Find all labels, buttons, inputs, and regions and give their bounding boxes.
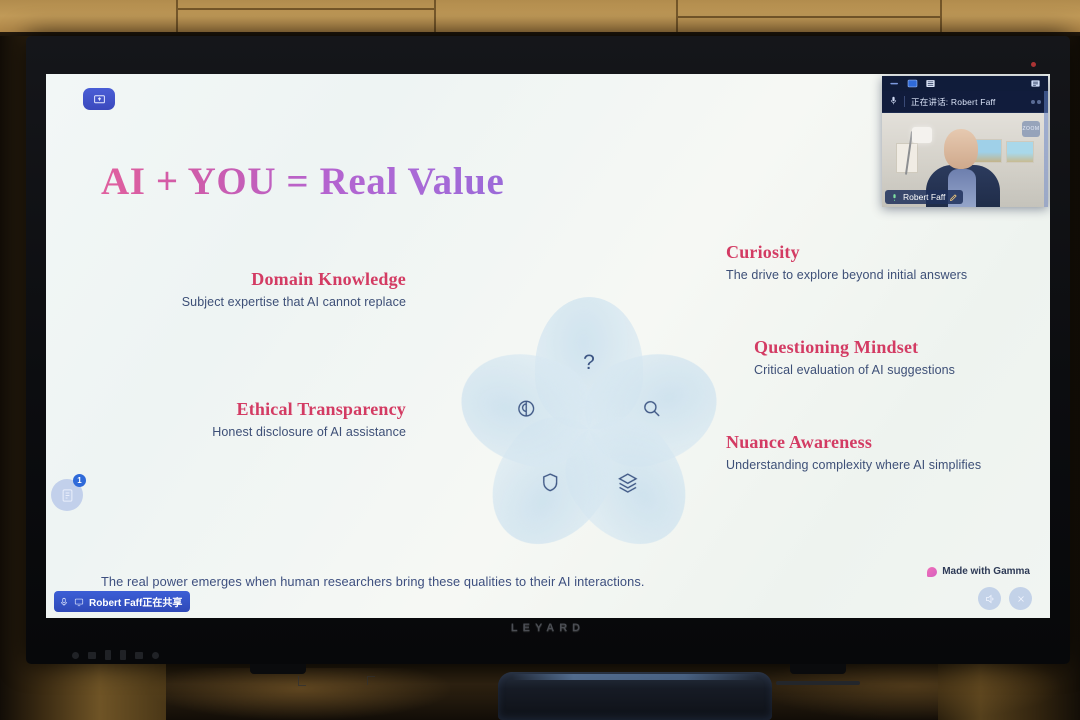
feature-questioning-mindset: Questioning Mindset Critical evaluation … (754, 337, 1050, 377)
shield-icon (535, 467, 565, 497)
ir-sensor-strip (776, 681, 860, 685)
video-wall-picture (1006, 141, 1034, 163)
participant-name: Robert Faff (903, 192, 945, 202)
zoom-panel-toolbar (882, 76, 1048, 91)
monitor-screen: AI + YOU = Real Value ? (46, 74, 1050, 618)
wood-seam (176, 0, 178, 36)
feature-curiosity: Curiosity The drive to explore beyond in… (726, 242, 1026, 282)
monitor-stand-left (250, 664, 306, 674)
microphone-icon (889, 93, 898, 111)
display-monitor: AI + YOU = Real Value ? (26, 36, 1070, 664)
feature-description: The drive to explore beyond initial answ… (726, 268, 1026, 282)
monitor-brand: LEYARD (26, 622, 1070, 634)
more-options-icon[interactable] (1031, 100, 1041, 104)
close-icon[interactable] (1009, 587, 1032, 610)
feature-heading: Ethical Transparency (106, 399, 406, 420)
presentation-slide: AI + YOU = Real Value ? (46, 74, 1050, 618)
panel-edge-highlight (1044, 91, 1048, 207)
sharing-indicator-bar[interactable]: Robert Faff正在共享 (54, 591, 190, 612)
feature-domain-knowledge: Domain Knowledge Subject expertise that … (106, 269, 406, 309)
gamma-logo-icon (927, 567, 937, 577)
zoom-video-panel[interactable]: 正在讲话: Robert Faff ZOOM (882, 76, 1048, 207)
wood-seam (434, 0, 436, 36)
video-corner-badge-label: ZOOM (1023, 126, 1040, 132)
brain-split-circle-icon (511, 394, 541, 424)
feature-description: Critical evaluation of AI suggestions (754, 363, 1050, 377)
list-view-icon[interactable] (925, 79, 936, 88)
port-icon (135, 652, 143, 659)
bezel-marking (298, 676, 306, 686)
feature-description: Subject expertise that AI cannot replace (106, 295, 406, 309)
magnifier-icon (637, 394, 667, 424)
slide-title: AI + YOU = Real Value (101, 159, 504, 204)
microphone-icon (890, 193, 899, 202)
participant-head (944, 129, 978, 169)
feature-heading: Curiosity (726, 242, 1026, 263)
feature-description: Honest disclosure of AI assistance (106, 425, 406, 439)
feature-heading: Domain Knowledge (106, 269, 406, 290)
feature-nuance-awareness: Nuance Awareness Understanding complexit… (726, 432, 1046, 472)
pencil-icon (949, 193, 958, 202)
divider (904, 96, 905, 107)
speaker-icon[interactable] (978, 587, 1001, 610)
bezel-marking (367, 676, 375, 685)
bezel-ports (72, 650, 159, 660)
chair-highlight (512, 674, 758, 680)
speaking-label: 正在讲话: Robert Faff (911, 96, 996, 108)
microphone-icon (59, 597, 69, 607)
gamma-badge-label: Made with Gamma (942, 566, 1030, 577)
made-with-gamma-badge[interactable]: Made with Gamma (927, 566, 1030, 577)
feature-ethical-transparency: Ethical Transparency Honest disclosure o… (106, 399, 406, 439)
monitor-stand-right (790, 664, 846, 674)
screen-share-icon (74, 597, 84, 607)
feature-description: Understanding complexity where AI simpli… (726, 458, 1046, 472)
layers-icon (613, 467, 643, 497)
port-icon (88, 652, 96, 659)
participant-name-label: Robert Faff (885, 190, 963, 204)
wood-seam (940, 0, 942, 36)
feature-heading: Questioning Mindset (754, 337, 1050, 358)
participant-video-tile[interactable]: ZOOM Robert Faff (882, 113, 1048, 207)
video-lamp-shade (912, 127, 932, 143)
minimize-icon[interactable] (889, 79, 900, 88)
zoom-speaking-bar: 正在讲话: Robert Faff (882, 91, 1048, 113)
video-window-icon[interactable] (907, 79, 918, 88)
closing-statement: The real power emerges when human resear… (101, 574, 645, 589)
slide-controls (978, 587, 1032, 610)
wood-groove (678, 16, 940, 18)
wood-groove (178, 8, 434, 10)
sharing-indicator-label: Robert Faff正在共享 (89, 594, 182, 609)
notes-badge-count: 1 (73, 474, 86, 487)
wood-seam (676, 0, 678, 36)
feature-heading: Nuance Awareness (726, 432, 1046, 453)
video-corner-badge: ZOOM (1022, 121, 1040, 137)
wood-wall-panel (0, 0, 1080, 36)
port-icon (152, 652, 159, 659)
port-icon (120, 650, 126, 660)
port-icon (105, 650, 111, 660)
status-led (1031, 62, 1036, 67)
screen-share-icon[interactable] (83, 88, 115, 110)
menu-icon[interactable] (1030, 79, 1041, 88)
port-icon (72, 652, 79, 659)
petal-diagram: ? (444, 284, 734, 574)
